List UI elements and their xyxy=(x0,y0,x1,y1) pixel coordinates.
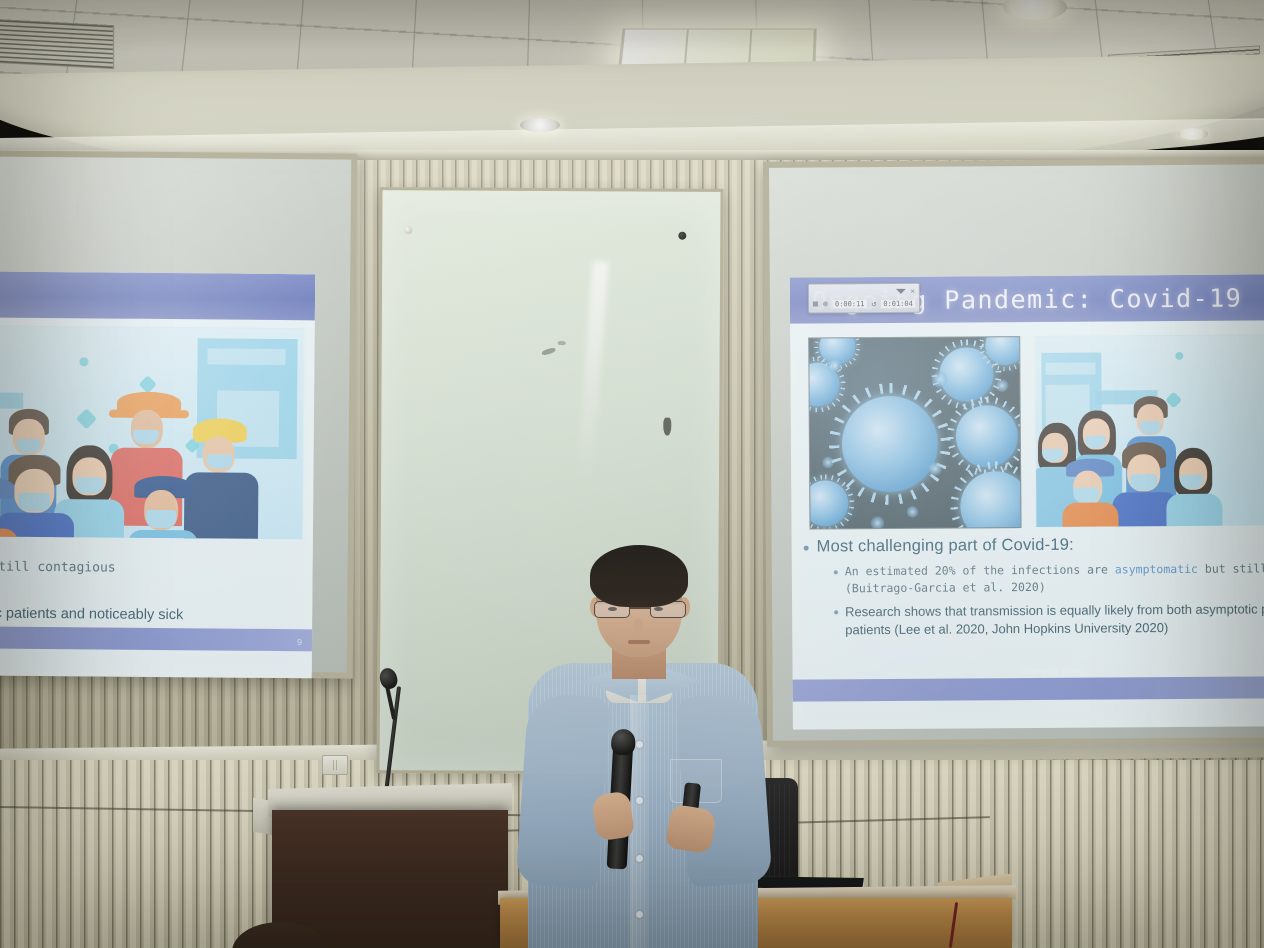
slide-bullet-main-text: Most challenging part of Covid-19: xyxy=(817,536,1074,557)
slide-body-right: Most challenging part of Covid-19: An es… xyxy=(790,320,1264,702)
slide-sub-bullets: An estimated 20% of the infections are a… xyxy=(834,560,1264,640)
whiteboard-marker-smudge-1 xyxy=(541,347,556,356)
recorder-secondary-time: 0:01:04 xyxy=(881,299,915,307)
slide-watermark: Zhengxin Wang xyxy=(1021,667,1083,676)
chevron-down-icon[interactable] xyxy=(896,289,906,294)
presenter xyxy=(520,545,780,948)
shirt-button-2 xyxy=(636,797,643,804)
whiteboard-clip xyxy=(663,418,671,436)
handheld-microphone-head-icon xyxy=(611,728,636,755)
recorder-toolbar-titlebar: × xyxy=(809,286,919,298)
masked-crowd-illustration-right xyxy=(1034,334,1264,528)
undo-icon[interactable]: ↺ xyxy=(871,299,876,308)
masked-crowd-illustration-left xyxy=(0,325,305,541)
slide-left-text-mono: otomatic but still contagious xyxy=(0,557,313,580)
recorder-elapsed-time: 0:00:11 xyxy=(833,300,867,308)
bullet-dot-icon xyxy=(834,570,838,574)
recorder-toolbar-controls: 0:00:11 ↺ 0:01:04 xyxy=(809,297,919,311)
projection-screen-left: -19 xyxy=(0,150,357,678)
slide-footer-right xyxy=(793,676,1264,702)
slide-sub-bullet-1: An estimated 20% of the infections are a… xyxy=(834,560,1264,598)
slide-title-bar-left: -19 xyxy=(0,271,315,321)
slide-bullet-main: Most challenging part of Covid-19: xyxy=(804,534,1264,557)
shirt-button-1 xyxy=(636,741,643,748)
whiteboard-marker-smudge-2 xyxy=(558,341,566,345)
shirt-button-4 xyxy=(636,911,643,918)
wall-outlet xyxy=(322,755,348,775)
screen-recorder-toolbar[interactable]: × 0:00:11 ↺ 0:01:04 xyxy=(808,283,920,314)
presenter-hand-left xyxy=(591,791,635,842)
presenter-hand-right xyxy=(665,804,717,855)
slide-footer-left: 9 xyxy=(0,626,312,652)
presenter-nose xyxy=(634,619,643,633)
sub-bullet-1-line-1: An estimated 20% of the infections are a… xyxy=(845,560,1264,581)
lecture-hall-photo: -19 xyxy=(0,0,1264,948)
screen-surface-right: Ongoing Pandemic: Covid-19 × 0:00:11 ↺ 0… xyxy=(769,164,1264,741)
presenter-left-arm xyxy=(515,692,610,889)
whiteboard-magnet-right xyxy=(678,232,686,240)
sub-bullet-1-pre: An estimated 20% of the infections are xyxy=(845,562,1115,578)
screen-surface-left: -19 xyxy=(0,156,351,672)
bullet-dot-icon xyxy=(834,610,838,614)
close-icon[interactable]: × xyxy=(910,287,915,295)
whiteboard-glare xyxy=(576,261,608,482)
stop-icon[interactable] xyxy=(813,301,818,306)
slide-left-text-sans-1: n both asymptotic patients and noticeabl… xyxy=(0,602,312,627)
bullet-dot-icon xyxy=(804,546,809,551)
slide-left: -19 xyxy=(0,271,315,679)
slide-right: Ongoing Pandemic: Covid-19 × 0:00:11 ↺ 0… xyxy=(790,274,1264,730)
record-icon[interactable] xyxy=(823,301,828,306)
sub-bullet-2-line-2: patients (Lee et al. 2020, John Hopkins … xyxy=(845,618,1264,641)
gooseneck-microphone xyxy=(370,672,430,804)
slide-body-left: otomatic but still contagious n both asy… xyxy=(0,317,315,652)
slide-sub-bullet-2: Research shows that transmission is equa… xyxy=(834,600,1264,641)
slide-bullet-list: Most challenging part of Covid-19: An es… xyxy=(804,534,1264,641)
sub-bullet-2-line-1: Research shows that transmission is equa… xyxy=(845,599,1264,622)
sub-bullet-1-line-2: (Buitrago-Garcia et al. 2020) xyxy=(845,577,1264,598)
presenter-mouth xyxy=(628,640,650,644)
shirt-button-3 xyxy=(636,855,643,862)
presenter-hair xyxy=(590,545,688,607)
glasses-bridge xyxy=(630,607,650,609)
coronavirus-micrograph xyxy=(808,336,1021,529)
sub-bullet-1-highlight: asymptomatic xyxy=(1115,562,1198,577)
ceiling-downlight-3 xyxy=(1178,128,1208,140)
projection-screen-right: Ongoing Pandemic: Covid-19 × 0:00:11 ↺ 0… xyxy=(763,158,1264,747)
slide-page-number-left: 9 xyxy=(297,637,302,647)
slide-image-row xyxy=(808,334,1264,529)
sub-bullet-1-post: but still contagious xyxy=(1198,561,1264,576)
ceiling-downlight-2 xyxy=(520,118,560,132)
whiteboard-magnet-left xyxy=(404,226,412,234)
